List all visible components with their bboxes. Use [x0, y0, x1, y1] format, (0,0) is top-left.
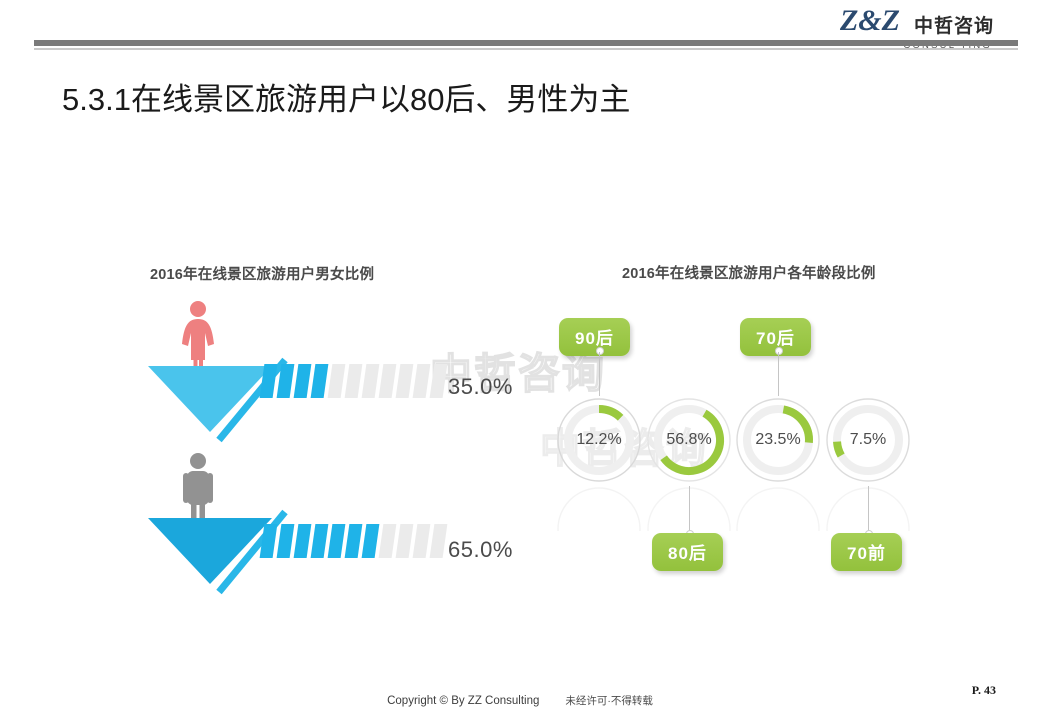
bar-segment [345, 524, 363, 558]
bar-segment [277, 364, 295, 398]
copyright-text: Copyright © By ZZ Consulting [387, 695, 539, 707]
bar-segment [379, 364, 397, 398]
bar-segment [362, 364, 380, 398]
age-badge-80hou[interactable]: 80后 [652, 533, 723, 571]
donut-reflection [555, 485, 643, 531]
bar-segment [430, 364, 448, 398]
page-title: 5.3.1在线景区旅游用户以80后、男性为主 [62, 74, 630, 119]
slide-root: Z&Z 中哲咨询 CONSUL TING 5.3.1在线景区旅游用户以80后、男… [0, 0, 1040, 720]
logo-mark: Z&Z [840, 6, 900, 36]
male-bar-track [262, 524, 445, 558]
age-chart-heading: 2016年在线景区旅游用户各年龄段比例 [622, 262, 876, 283]
leader-line [599, 352, 600, 396]
divider-thin-line [34, 48, 1018, 50]
bar-segment [396, 524, 414, 558]
female-bar-track [262, 364, 445, 398]
female-percentage-value: 35.0% [448, 374, 513, 400]
bar-segment [328, 364, 346, 398]
age-value-80hou: 56.8% [645, 396, 733, 484]
bar-segment [260, 364, 278, 398]
leader-line [778, 352, 779, 396]
leader-line [689, 486, 690, 532]
male-percentage-value: 65.0% [448, 537, 513, 563]
bar-segment [311, 524, 329, 558]
bar-segment [311, 364, 329, 398]
bar-segment [362, 524, 380, 558]
age-donut-80hou: 56.8% [645, 396, 733, 484]
page-number: P. 43 [972, 683, 996, 698]
age-donut-70hou: 23.5% [734, 396, 822, 484]
header-divider [34, 40, 1018, 50]
bar-segment [260, 524, 278, 558]
logo-chinese-name: 中哲咨询 [914, 17, 994, 36]
footer-notice: 未经许可·不得转载 [565, 695, 653, 707]
leader-dot [776, 348, 782, 354]
bar-segment [277, 524, 295, 558]
bar-segment [294, 364, 312, 398]
leader-dot [597, 348, 603, 354]
bar-segment [328, 524, 346, 558]
age-donut-70qian: 7.5% [824, 396, 912, 484]
bar-segment [345, 364, 363, 398]
age-value-70hou: 23.5% [734, 396, 822, 484]
age-badge-90hou[interactable]: 90后 [559, 318, 630, 356]
bar-segment [294, 524, 312, 558]
age-value-70qian: 7.5% [824, 396, 912, 484]
donut-reflection [734, 485, 822, 531]
gender-chart-heading: 2016年在线景区旅游用户男女比例 [150, 263, 374, 284]
bar-segment [396, 364, 414, 398]
bar-segment [413, 524, 431, 558]
gender-row-female [0, 300, 540, 440]
age-value-90hou: 12.2% [555, 396, 643, 484]
bar-segment [413, 364, 431, 398]
bar-segment [379, 524, 397, 558]
age-donut-90hou: 12.2% [555, 396, 643, 484]
footer: Copyright © By ZZ Consulting未经许可·不得转载 [0, 693, 1040, 708]
leader-line [868, 486, 869, 532]
bar-segment [430, 524, 448, 558]
gender-row-male [0, 452, 540, 592]
age-badge-70qian[interactable]: 70前 [831, 533, 902, 571]
divider-thick-line [34, 40, 1018, 46]
